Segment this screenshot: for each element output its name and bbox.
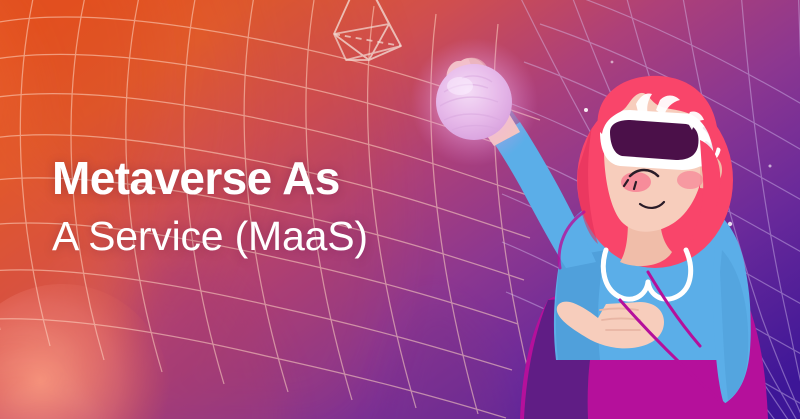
orb-highlight xyxy=(447,77,473,95)
page-title-line-2: A Service (MaaS) xyxy=(52,208,368,264)
metaverse-banner: Metaverse As A Service (MaaS) xyxy=(0,0,800,419)
page-title-line-1: Metaverse As xyxy=(52,150,368,206)
headline: Metaverse As A Service (MaaS) xyxy=(52,150,368,264)
